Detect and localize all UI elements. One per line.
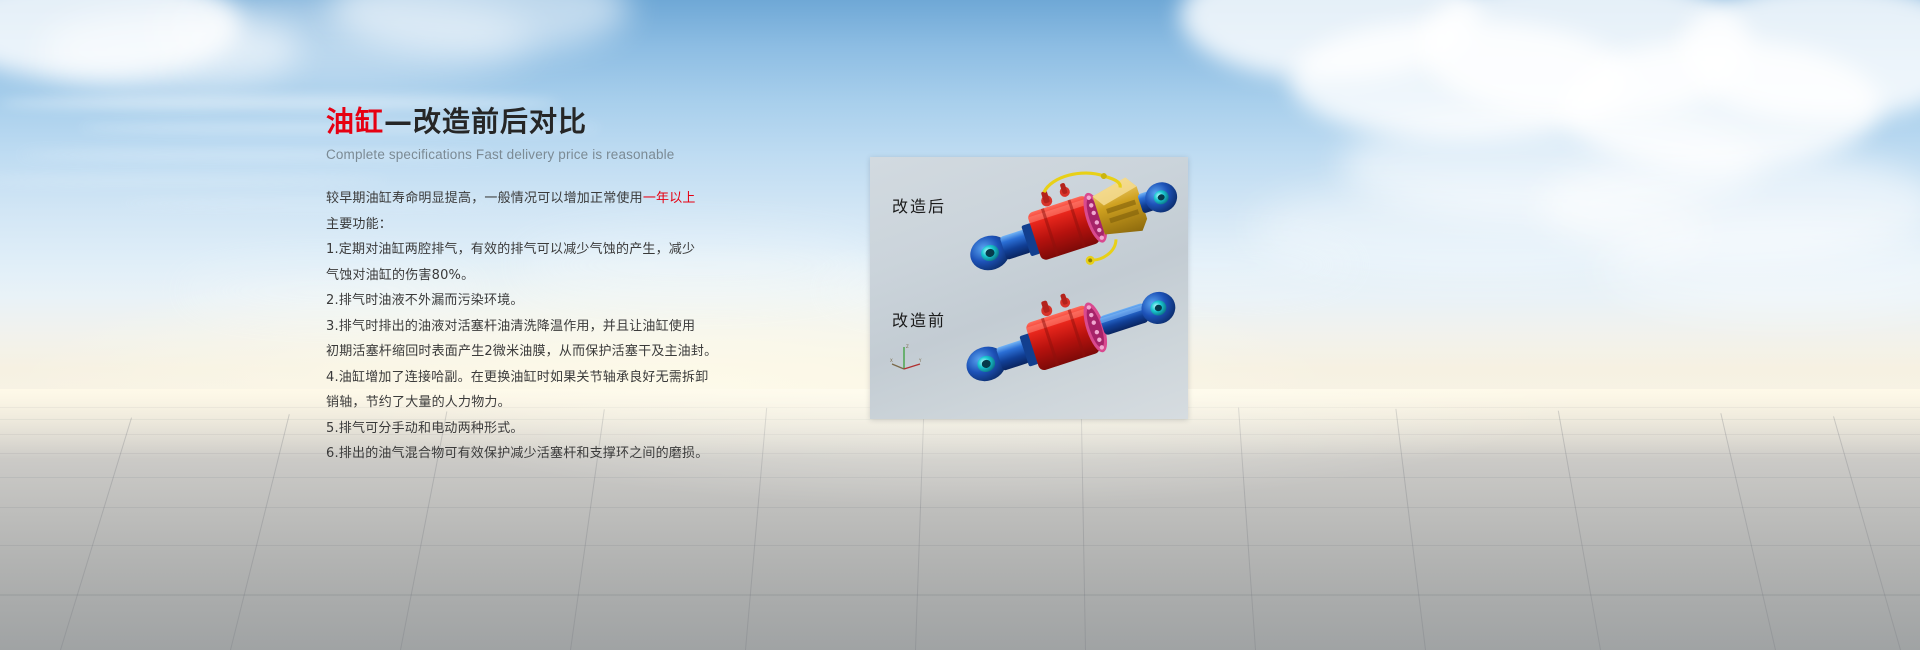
tile-line [0,477,1920,478]
tile-line [0,507,1920,508]
tile-line [0,434,1920,435]
feature-line: 销轴，节约了大量的人力物力。 [326,390,846,416]
functions-heading: 主要功能： [326,212,846,238]
comparison-image-panel: 改造后 改造前 Z X Y [870,157,1188,419]
feature-line: 5.排气可分手动和电动两种形式。 [326,416,846,442]
feature-line: 4.油缸增加了连接哈副。在更换油缸时如果关节轴承良好无需拆卸 [326,365,846,391]
feature-line: 1.定期对油缸两腔排气，有效的排气可以减少气蚀的产生，减少 [326,237,846,263]
axis-gizmo-icon: Z X Y [890,343,924,373]
banner-content: 油缸—改造前后对比 Complete specifications Fast d… [326,105,846,467]
feature-line: 2.排气时油液不外漏而污染环境。 [326,288,846,314]
label-after-retrofit: 改造后 [892,193,946,217]
intro-highlight: 一年以上 [643,191,696,206]
pavement-background [0,389,1920,650]
feature-line: 初期活塞杆缩回时表面产生2微米油膜，从而保护活塞干及主油封。 [326,339,846,365]
cylinder-after-render [958,165,1180,277]
page-title: 油缸—改造前后对比 [326,105,846,139]
page-subtitle: Complete specifications Fast delivery pr… [326,146,846,163]
svg-text:Z: Z [906,344,909,349]
tile-line [0,545,1920,546]
label-before-retrofit: 改造前 [892,307,946,331]
title-highlight: 油缸 [326,105,384,138]
feature-line: 3.排气时排出的油液对活塞杆油清洗降温作用，并且让油缸使用 [326,314,846,340]
feature-description: 较早期油缸寿命明显提高，一般情况可以增加正常使用一年以上 主要功能： 1.定期对… [326,186,846,467]
svg-text:Y: Y [918,358,922,363]
intro-line: 较早期油缸寿命明显提高，一般情况可以增加正常使用一年以上 [326,186,846,212]
hero-banner: 油缸—改造前后对比 Complete specifications Fast d… [0,0,1920,650]
cylinder-before-render [958,277,1180,397]
feature-line: 6.排出的油气混合物可有效保护减少活塞杆和支撑环之间的磨损。 [326,441,846,467]
tile-line [0,453,1920,454]
title-rest: —改造前后对比 [384,105,587,138]
intro-prefix: 较早期油缸寿命明显提高，一般情况可以增加正常使用 [326,191,643,206]
feature-line: 气蚀对油缸的伤害80%。 [326,263,846,289]
svg-text:X: X [890,358,893,363]
tile-line [0,594,1920,596]
